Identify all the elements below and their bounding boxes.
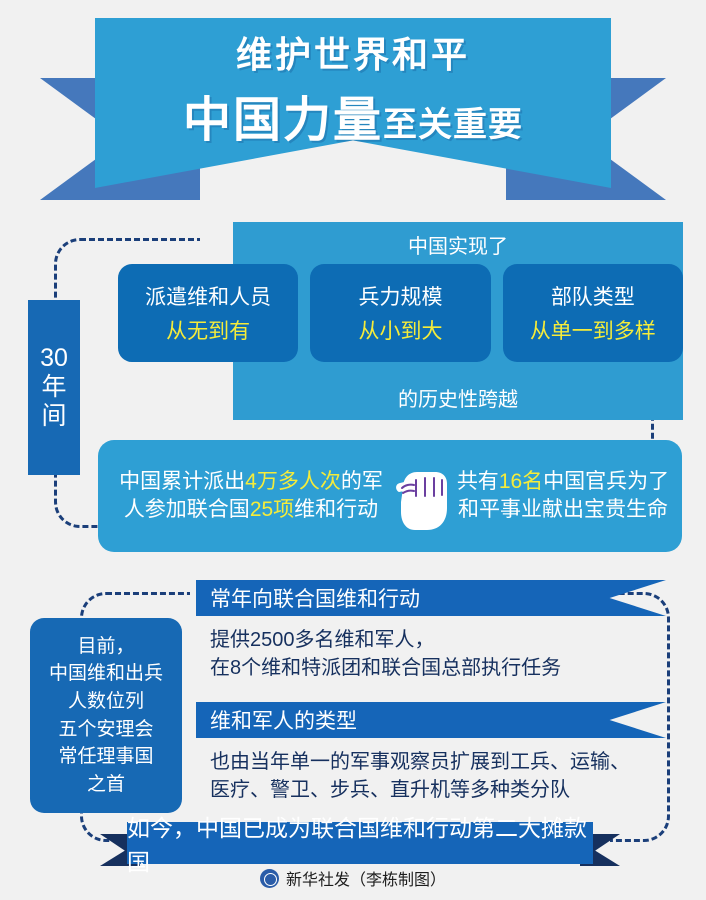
current-label-line-3: 人数位列	[68, 688, 144, 716]
current-label-line-1: 目前，	[77, 633, 134, 661]
stats-left-prefix: 中国累计派出	[119, 470, 245, 493]
page-title-line1: 维护世界和平	[236, 26, 470, 78]
infographic-page: 维护世界和平 中国力量 至关重要 30 年 间 中国实现了 的历史性跨越 派遣维…	[0, 0, 706, 900]
stats-left-highlight-2: 25项	[250, 498, 294, 521]
current-label-line-4: 五个安理会	[58, 716, 153, 744]
current-block-1-body-line1: 提供2500多名维和军人，	[210, 626, 680, 654]
achievement-card-3: 部队类型 从单一到多样	[503, 264, 683, 362]
achievement-card-2: 兵力规模 从小到大	[310, 264, 490, 362]
years-label-line-1: 30	[40, 345, 68, 372]
current-label-line-5: 常任理事国	[58, 743, 153, 771]
current-block-2-body-line1: 也由当年单一的军事观察员扩展到工兵、运输、	[210, 748, 680, 776]
years-label-line-2: 年	[41, 374, 66, 401]
ribbon-main-panel: 维护世界和平 中国力量 至关重要	[95, 18, 611, 188]
current-label-line-2: 中国维和出兵	[49, 660, 163, 688]
achievement-card-1-title: 派遣维和人员	[145, 281, 271, 311]
current-block-2-header: 维和军人的类型	[196, 702, 666, 738]
page-title-line2: 中国力量 至关重要	[183, 80, 523, 150]
achievement-card-2-value: 从小到大	[358, 315, 442, 345]
stats-left-suffix: 维和行动	[294, 498, 378, 521]
raised-fist-icon	[388, 458, 454, 534]
stats-left-highlight-1: 4万多人次	[245, 470, 341, 493]
achievement-card-3-title: 部队类型	[551, 281, 635, 311]
stats-right-prefix: 共有	[457, 470, 499, 493]
header-ribbon: 维护世界和平 中国力量 至关重要	[0, 18, 706, 208]
current-block-1-body-line2: 在8个维和特派团和联合国总部执行任务	[210, 654, 680, 682]
page-title-line2-suffix: 至关重要	[383, 97, 523, 146]
page-title-line2-emphasis: 中国力量	[183, 80, 383, 150]
statistics-right-text: 共有16名中国官兵为了和平事业献出宝贵生命	[454, 468, 682, 523]
achievement-card-1: 派遣维和人员 从无到有	[118, 264, 298, 362]
current-label-line-6: 之首	[87, 771, 125, 799]
years-label-line-3: 间	[41, 403, 66, 430]
current-block-1-header: 常年向联合国维和行动	[196, 580, 666, 616]
conclusion-ribbon: 如今，中国已成为联合国维和行动第二大摊款国	[100, 822, 620, 866]
current-block-1-header-text: 常年向联合国维和行动	[196, 583, 420, 613]
achievements-caption-bottom: 的历史性跨越	[233, 383, 683, 412]
statistics-left-text: 中国累计派出4万多人次的军人参加联合国25项维和行动	[98, 468, 388, 523]
conclusion-banner: 如今，中国已成为联合国维和行动第二大摊款国	[127, 822, 593, 864]
current-block-2-body: 也由当年单一的军事观察员扩展到工兵、运输、 医疗、警卫、步兵、直升机等多种类分队	[210, 748, 680, 805]
current-block-2-header-text: 维和军人的类型	[196, 705, 357, 735]
xinhua-logo-icon	[260, 869, 279, 888]
statistics-box: 中国累计派出4万多人次的军人参加联合国25项维和行动 共有16名中国官兵为了和平…	[98, 440, 682, 552]
years-side-label: 30 年 间	[28, 300, 80, 475]
footer-credit: 新华社发（李栋制图）	[0, 866, 706, 890]
stats-right-highlight: 16名	[499, 470, 543, 493]
current-side-label: 目前， 中国维和出兵 人数位列 五个安理会 常任理事国 之首	[30, 618, 182, 813]
achievement-card-1-value: 从无到有	[166, 315, 250, 345]
current-block-1-body: 提供2500多名维和军人， 在8个维和特派团和联合国总部执行任务	[210, 626, 680, 683]
achievements-caption-top: 中国实现了	[233, 230, 683, 259]
achievement-card-2-title: 兵力规模	[358, 281, 442, 311]
achievement-cards: 派遣维和人员 从无到有 兵力规模 从小到大 部队类型 从单一到多样	[118, 264, 683, 362]
credit-text: 新华社发（李栋制图）	[286, 866, 446, 890]
achievement-card-3-value: 从单一到多样	[530, 315, 656, 345]
current-block-2-body-line2: 医疗、警卫、步兵、直升机等多种类分队	[210, 776, 680, 804]
